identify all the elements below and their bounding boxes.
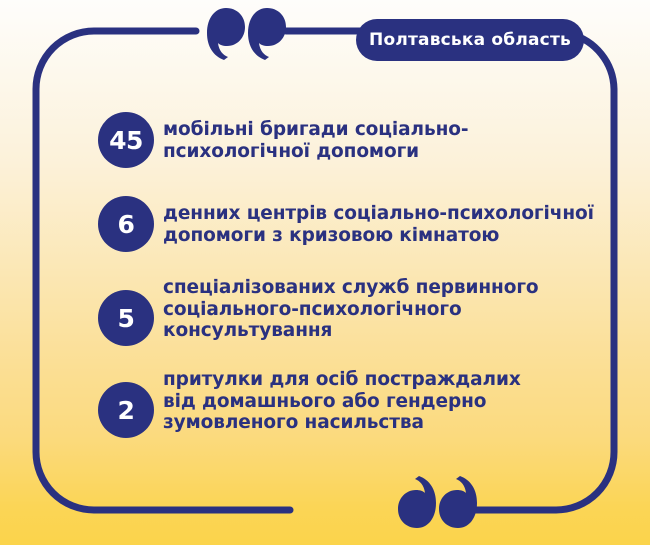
stat-row: 6 денних центрів соціально-психологічної… <box>98 196 594 252</box>
stat-count-badge: 5 <box>98 290 154 346</box>
stat-description: мобільні бригади соціально- психологічно… <box>163 112 468 162</box>
stat-count-badge: 45 <box>98 112 154 168</box>
stat-description: притулки для осіб постраждалих від домаш… <box>163 369 521 434</box>
stat-count-badge: 2 <box>98 382 154 438</box>
frame-right-path <box>462 34 614 510</box>
region-tab-label: Полтавська область <box>369 30 571 50</box>
stat-row: 2 притулки для осіб постраждалих від дом… <box>98 369 521 438</box>
frame-left-path <box>36 31 290 510</box>
quote-open-icon <box>206 2 288 64</box>
stat-row: 45 мобільні бригади соціально- психологі… <box>98 112 468 168</box>
quote-close-icon <box>396 472 478 534</box>
stat-description: спеціалізованих служб первинного соціаль… <box>163 277 539 342</box>
stat-count-badge: 6 <box>98 196 154 252</box>
decorative-frame <box>0 0 650 545</box>
region-tab: Полтавська область <box>356 19 584 61</box>
stat-row: 5 спеціалізованих служб первинного соціа… <box>98 277 539 346</box>
stat-description: денних центрів соціально-психологічної д… <box>163 196 594 246</box>
infographic-poster: Полтавська область 45 мобільні бригади с… <box>0 0 650 545</box>
